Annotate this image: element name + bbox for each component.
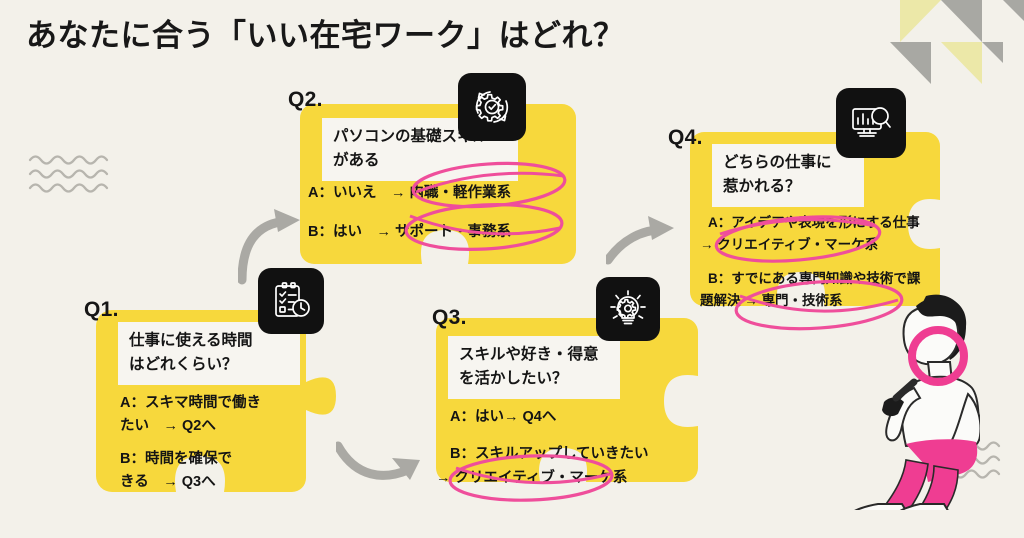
person-illustration-svg xyxy=(808,278,980,510)
card-q2-heading-line2: がある xyxy=(333,149,505,173)
card-q1-answer-b: B：時間を確保で きる → Q3へ xyxy=(120,448,320,495)
decorative-triangle-pattern xyxy=(890,0,1024,84)
card-q2[interactable]: Q2. パソコンの基礎スキル がある A：いいえ → 内職・軽作業系 B：はい … xyxy=(300,104,576,278)
triangle-pattern-svg xyxy=(890,0,1024,84)
card-q2-answer-a: A：いいえ → 内職・軽作業系 xyxy=(308,182,578,205)
card-q3-answer-a: A：はい→ Q4へ xyxy=(450,406,700,429)
card-q4-answer-a-line2: → クリエイティブ・マーケ系 xyxy=(700,234,954,256)
card-q3-icon-badge xyxy=(596,277,660,341)
card-q3-heading-line2: を活かしたい？ xyxy=(459,367,607,391)
card-q3-answer-b-line2: → クリエイティブ・マーケ系 xyxy=(436,467,700,490)
card-q3-answer-b: B：スキルアップしていきたい → クリエイティブ・マーケ系 xyxy=(450,443,700,490)
card-q2-icon-badge xyxy=(458,73,526,141)
card-q1-heading-line1: 仕事に使える時間 xyxy=(129,329,287,353)
arrow-q1-to-q3 xyxy=(336,428,434,495)
squiggle-decoration-left xyxy=(28,152,114,201)
card-q1-icon-badge xyxy=(258,268,324,334)
card-q3-answer-b-line1: B：スキルアップしていきたい xyxy=(450,443,700,466)
card-q2-body: A：いいえ → 内職・軽作業系 B：はい → サポート・事務系 xyxy=(308,182,578,254)
card-q1-label: Q1. xyxy=(84,298,119,322)
card-q1-answer-b-line2: きる → Q3へ xyxy=(120,471,320,494)
monitor-chart-search-icon xyxy=(848,100,894,146)
card-q2-answer-b: B：はい → サポート・事務系 xyxy=(308,221,578,244)
card-q3-label: Q3. xyxy=(432,306,467,330)
card-q4-heading-line1: どちらの仕事に xyxy=(723,151,851,175)
card-q1[interactable]: Q1. 仕事に使える時間 はどれくらい？ A：スキマ時間で働き たい → Q2へ… xyxy=(96,310,328,522)
card-q1-answer-b-line1: B：時間を確保で xyxy=(120,448,320,471)
squiggle-svg-left xyxy=(28,152,114,196)
card-q1-answer-a-line2: たい → Q2へ xyxy=(120,415,320,438)
card-q4-icon-badge xyxy=(836,88,906,158)
card-q1-answer-a-line1: A：スキマ時間で働き xyxy=(120,392,320,415)
card-q3[interactable]: Q3. スキルや好き・得意 を活かしたい？ A：はい→ Q4へ B：スキルアップ… xyxy=(436,318,698,514)
gear-check-cycle-icon xyxy=(469,84,515,130)
page-title: あなたに合う「いい在宅ワーク」はどれ？ xyxy=(26,10,625,55)
card-q4-label: Q4. xyxy=(668,126,703,150)
card-q4-answer-a: A：アイデアや表現を形にする仕事 → クリエイティブ・マーケ系 xyxy=(708,212,954,256)
card-q1-heading-line2: はどれくらい？ xyxy=(129,353,287,377)
card-q3-heading: スキルや好き・得意 を活かしたい？ xyxy=(448,336,620,399)
infographic-canvas: あなたに合う「いい在宅ワーク」はどれ？ Q1. 仕事に使える時間 はどれくらい？… xyxy=(0,0,1024,538)
card-q3-heading-line1: スキルや好き・得意 xyxy=(459,343,607,367)
arrow-q3-to-q4 xyxy=(606,210,684,281)
card-q4-answer-a-line1: A：アイデアや表現を形にする仕事 xyxy=(708,212,954,234)
card-q3-body: A：はい→ Q4へ B：スキルアップしていきたい → クリエイティブ・マーケ系 xyxy=(450,406,700,499)
card-q2-label: Q2. xyxy=(288,88,323,112)
clipboard-clock-icon xyxy=(270,280,312,322)
person-with-magnifier-illustration xyxy=(808,278,980,515)
card-q4-heading-line2: 惹かれる？ xyxy=(723,175,851,199)
curved-arrow-up-right-icon xyxy=(606,210,684,276)
lightbulb-gear-icon xyxy=(607,288,649,330)
curved-arrow-right-icon xyxy=(336,428,434,490)
card-q1-answer-a: A：スキマ時間で働き たい → Q2へ xyxy=(120,392,320,439)
card-q1-body: A：スキマ時間で働き たい → Q2へ B：時間を確保で きる → Q3へ xyxy=(120,392,320,504)
